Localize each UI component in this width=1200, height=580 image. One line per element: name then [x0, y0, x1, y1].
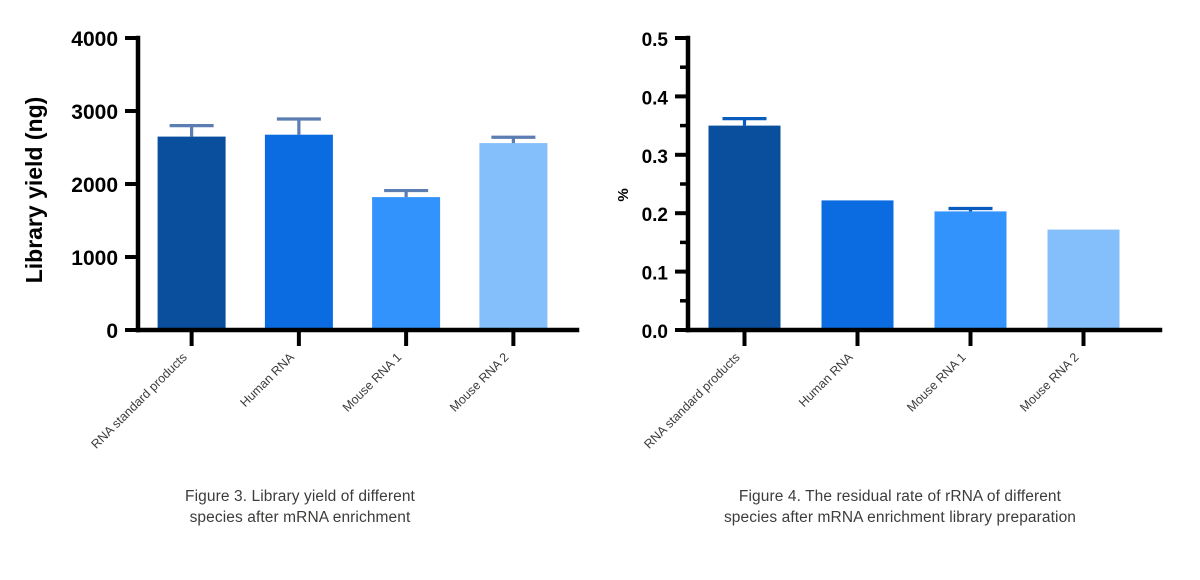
- y-tick-label: 0.5: [642, 30, 669, 51]
- x-ticks: [192, 330, 514, 346]
- error-bar-3: [384, 191, 428, 198]
- x-tick-label: Mouse RNA 2: [1017, 350, 1081, 414]
- bar-chart-rrna-residual-rate: 0.00.10.20.30.40.5%RNA standard products…: [600, 0, 1200, 470]
- error-bar-1: [170, 126, 214, 137]
- error-bar-3: [949, 209, 993, 212]
- x-tick-label: Mouse RNA 1: [340, 350, 404, 414]
- caption-line-2: species after mRNA enrichment: [30, 507, 570, 528]
- y-tick-label: 0.4: [642, 88, 669, 109]
- caption-line-1: Figure 3. Library yield of different: [30, 486, 570, 507]
- y-tick-label: 0.2: [642, 205, 668, 226]
- y-axis-title: Library yield (ng): [21, 97, 47, 284]
- y-axis-title: %: [615, 188, 632, 201]
- caption-line-2: species after mRNA enrichment library pr…: [630, 507, 1170, 528]
- y-tick-label: 1000: [71, 247, 118, 270]
- bar-1: [158, 137, 226, 330]
- x-tick-label: Human RNA: [796, 350, 856, 410]
- figure-3-plot: 01000200030004000Library yield (ng)RNA s…: [0, 0, 600, 470]
- x-tick-label: RNA standard products: [641, 350, 742, 451]
- x-tick-label: Mouse RNA 1: [904, 350, 968, 414]
- y-tick-label: 0.1: [642, 264, 669, 285]
- bar-2: [265, 135, 333, 330]
- y-tick-label: 0.0: [642, 322, 668, 343]
- x-tick-label: Human RNA: [237, 350, 297, 410]
- bar-4: [479, 143, 547, 330]
- bar-4: [1048, 230, 1120, 330]
- figure-3: 01000200030004000Library yield (ng)RNA s…: [0, 0, 600, 580]
- error-bar-2: [277, 119, 321, 135]
- figure-3-caption: Figure 3. Library yield of different spe…: [30, 486, 570, 528]
- bar-1: [709, 126, 781, 330]
- y-tick-label: 0.3: [642, 147, 668, 168]
- y-tick-label: 4000: [71, 28, 118, 51]
- figure-4: 0.00.10.20.30.40.5%RNA standard products…: [600, 0, 1200, 580]
- x-tick-label: Mouse RNA 2: [447, 350, 511, 414]
- bar-3: [372, 197, 440, 330]
- y-tick-label: 2000: [71, 174, 118, 197]
- figure-panel: 01000200030004000Library yield (ng)RNA s…: [0, 0, 1200, 580]
- error-bar-1: [723, 119, 767, 126]
- y-tick-label: 3000: [71, 101, 118, 124]
- bar-2: [822, 200, 894, 330]
- figure-4-caption: Figure 4. The residual rate of rRNA of d…: [630, 486, 1170, 528]
- error-bar-4: [491, 137, 535, 143]
- figure-4-plot: 0.00.10.20.30.40.5%RNA standard products…: [600, 0, 1200, 470]
- bar-3: [935, 211, 1007, 330]
- y-tick-label: 0: [106, 320, 118, 343]
- x-ticks: [745, 330, 1084, 346]
- caption-line-1: Figure 4. The residual rate of rRNA of d…: [630, 486, 1170, 507]
- bar-chart-library-yield: 01000200030004000Library yield (ng)RNA s…: [0, 0, 600, 470]
- x-tick-label: RNA standard products: [88, 350, 189, 451]
